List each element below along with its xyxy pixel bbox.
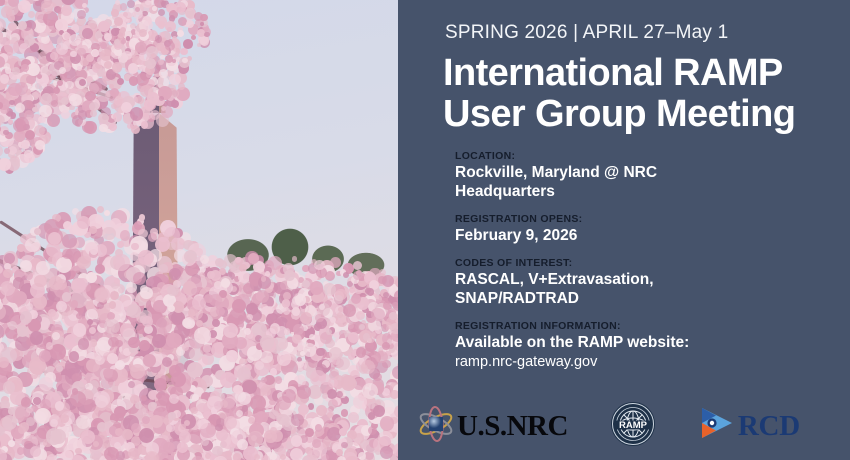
ramp-globe-seal-icon: RAMP xyxy=(610,401,656,452)
cherry-blossom-monument-photo xyxy=(0,0,398,460)
us-nrc-logo: U.S.NRC xyxy=(416,406,568,447)
rcd-triangle-icon xyxy=(696,405,736,448)
detail-registration-info-value: Available on the RAMP website: xyxy=(455,334,850,353)
detail-location: LOCATION: Rockville, Maryland @ NRC Head… xyxy=(455,150,850,202)
rcd-wordmark: RCD xyxy=(738,410,800,443)
detail-registration-opens-label: REGISTRATION OPENS: xyxy=(455,213,850,225)
detail-location-value-line-2: Headquarters xyxy=(455,183,850,202)
atom-orbital-icon xyxy=(416,406,456,447)
detail-location-value-line-1: Rockville, Maryland @ NRC xyxy=(455,164,850,183)
ramp-logo: RAMP xyxy=(610,401,656,452)
detail-codes-value-line-1: RASCAL, V+Extravasation, xyxy=(455,271,850,290)
event-details: LOCATION: Rockville, Maryland @ NRC Head… xyxy=(455,150,850,371)
logo-row: U.S.NRC xyxy=(398,400,850,452)
detail-codes-of-interest: CODES OF INTEREST: RASCAL, V+Extravasati… xyxy=(455,257,850,309)
detail-codes-label: CODES OF INTEREST: xyxy=(455,257,850,269)
rcd-logo: RCD xyxy=(696,405,800,448)
svg-text:RAMP: RAMP xyxy=(619,419,648,430)
title-line-1: International RAMP xyxy=(443,53,850,94)
detail-registration-info-label: REGISTRATION INFORMATION: xyxy=(455,320,850,332)
us-nrc-wordmark: U.S.NRC xyxy=(457,410,568,443)
event-poster: SPRING 2026 | APRIL 27–May 1 Internation… xyxy=(0,0,850,460)
info-panel: SPRING 2026 | APRIL 27–May 1 Internation… xyxy=(398,0,850,460)
detail-location-label: LOCATION: xyxy=(455,150,850,162)
event-dates-kicker: SPRING 2026 | APRIL 27–May 1 xyxy=(445,22,850,44)
title-line-2: User Group Meeting xyxy=(443,94,850,135)
ramp-website-url[interactable]: ramp.nrc-gateway.gov xyxy=(455,353,850,371)
detail-registration-opens: REGISTRATION OPENS: February 9, 2026 xyxy=(455,213,850,246)
page-title: International RAMP User Group Meeting xyxy=(443,53,850,134)
detail-codes-value-line-2: SNAP/RADTRAD xyxy=(455,290,850,309)
detail-registration-opens-value: February 9, 2026 xyxy=(455,227,850,246)
detail-registration-information: REGISTRATION INFORMATION: Available on t… xyxy=(455,320,850,371)
overhanging-blossom-branch xyxy=(0,0,210,248)
